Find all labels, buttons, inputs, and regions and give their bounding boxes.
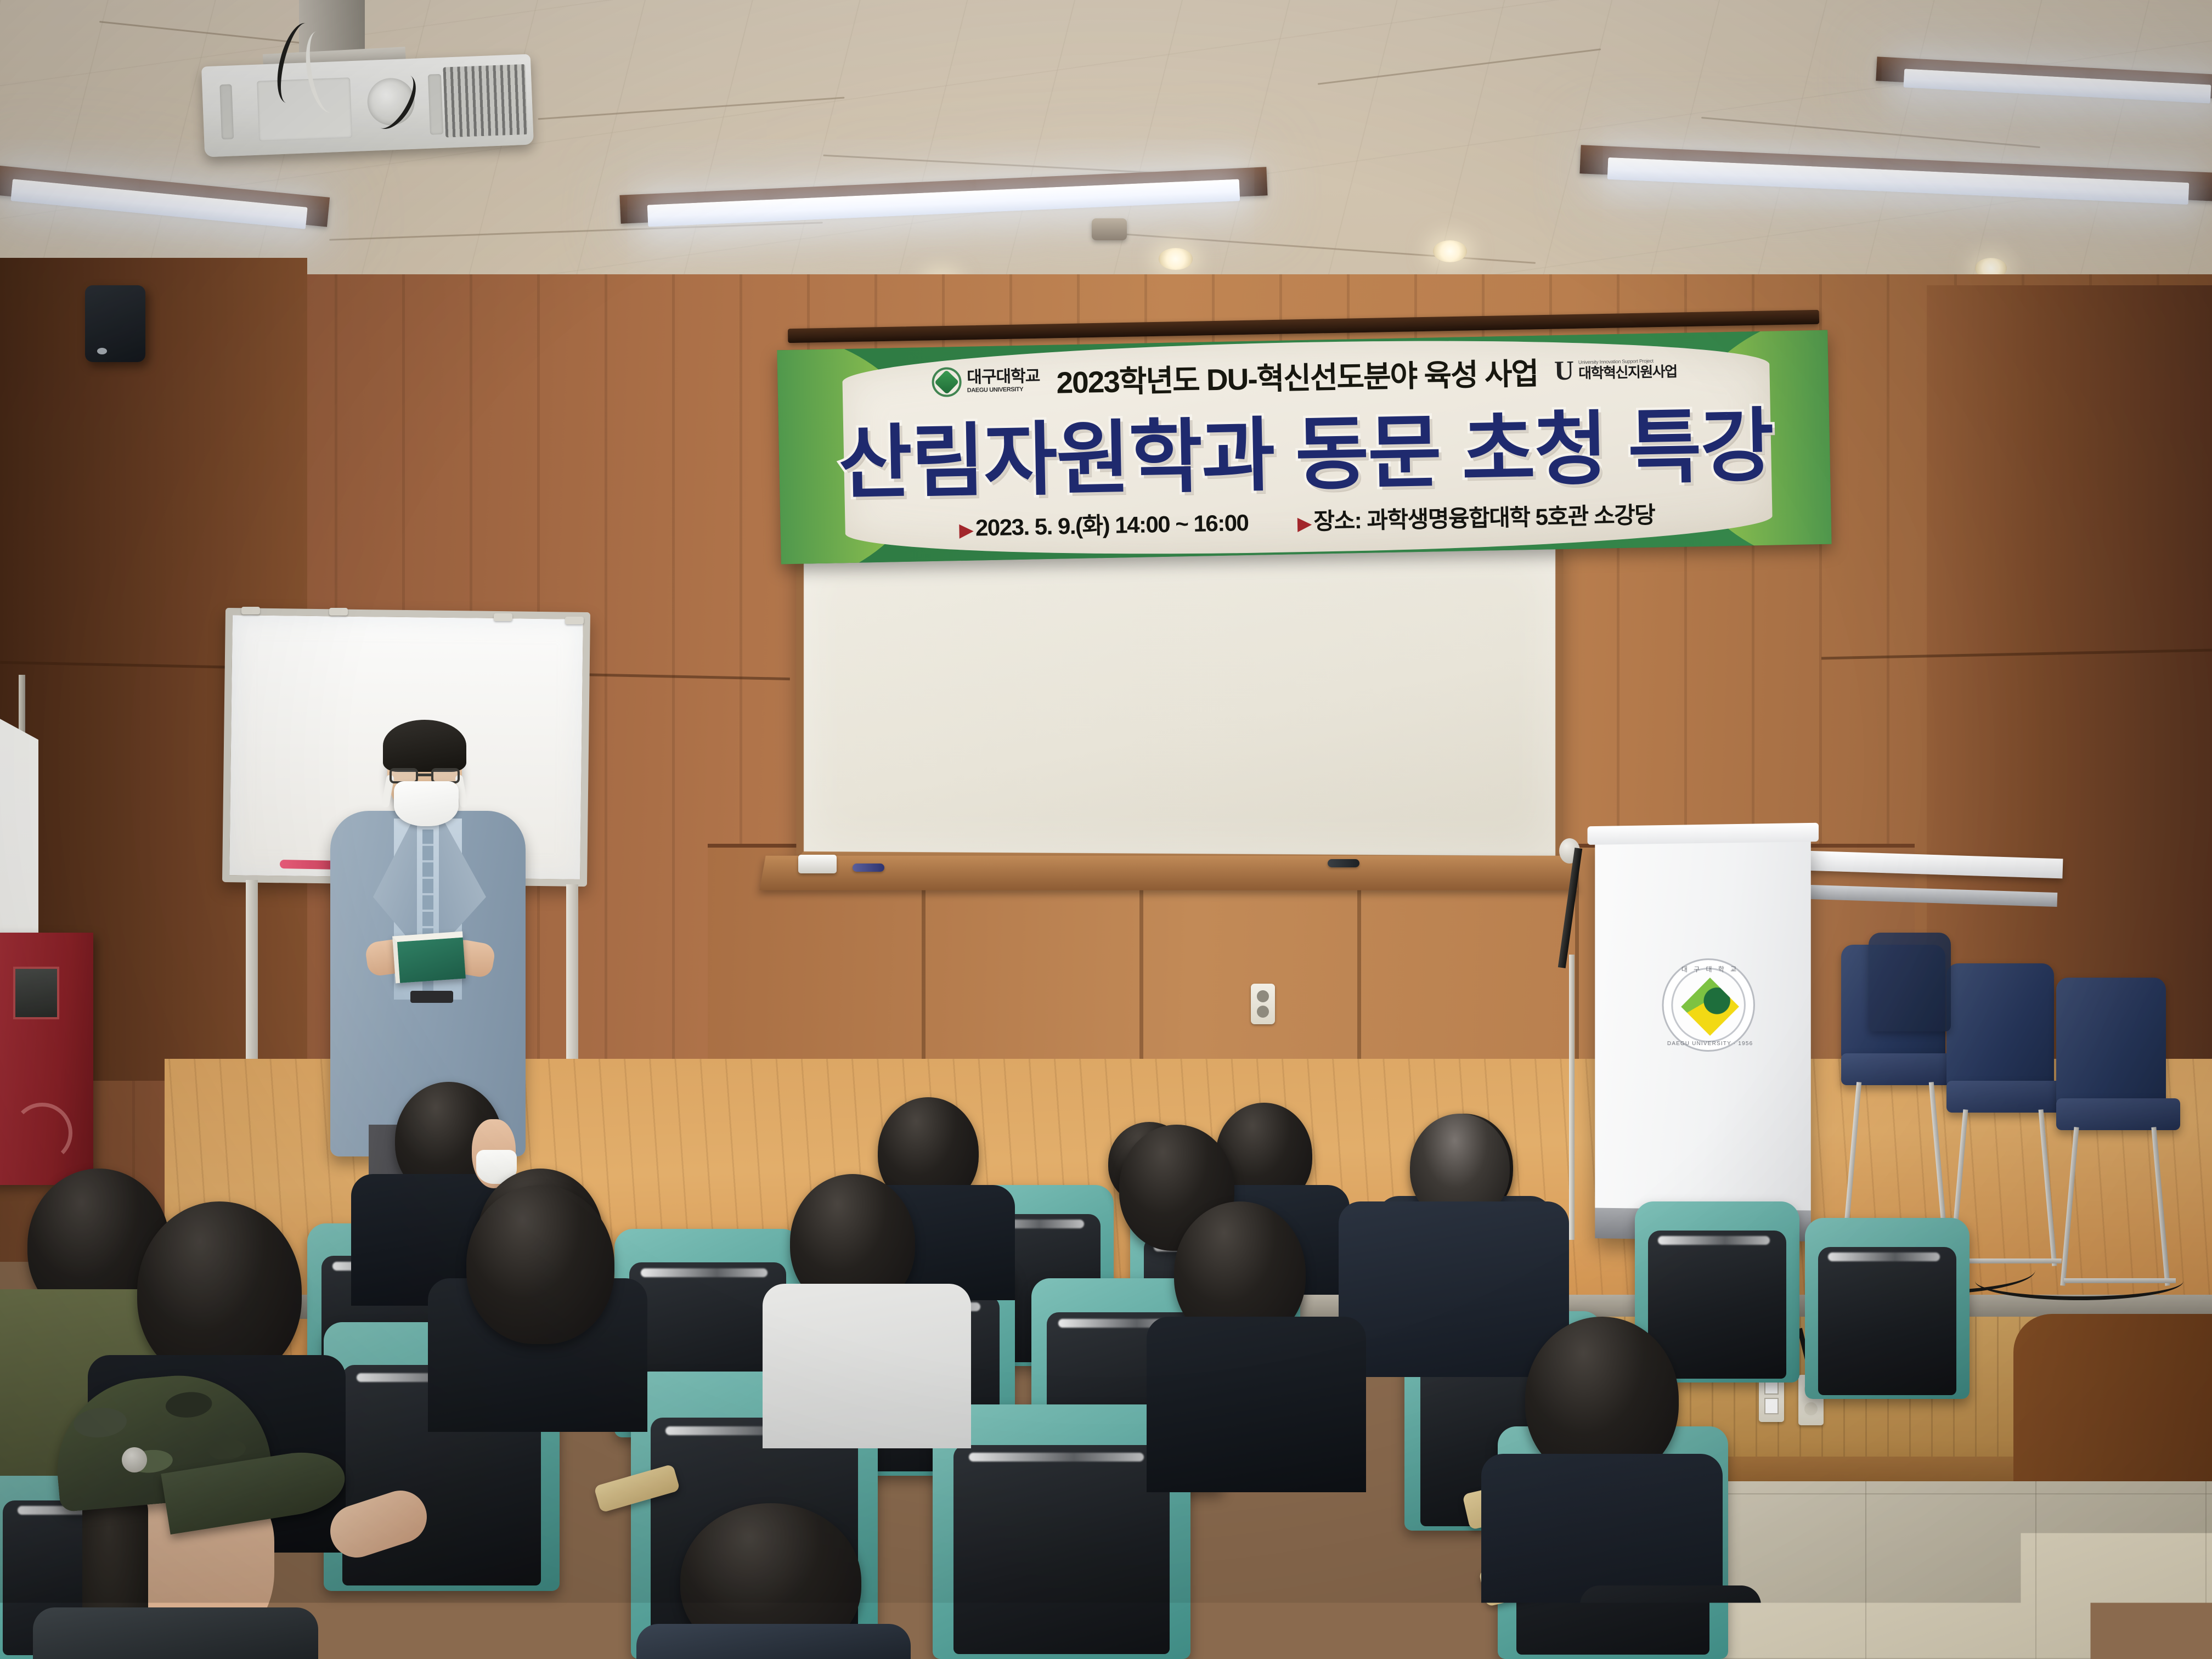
banner-place: ▶장소: 과학생명융합대학 5호관 소강당 bbox=[1297, 496, 1655, 536]
wall-speaker bbox=[85, 285, 145, 362]
innovation-project-logo: U University Innovation Support Project … bbox=[1554, 357, 1677, 381]
smoke-detector-icon bbox=[1092, 218, 1127, 240]
u-mark-icon: U bbox=[1554, 359, 1575, 382]
innovation-logo-korean: 대학혁신지원사업 bbox=[1578, 364, 1677, 380]
banner-place-text: 장소: 과학생명융합대학 5호관 소강당 bbox=[1313, 501, 1655, 534]
water-bottle[interactable] bbox=[1673, 1623, 1699, 1659]
capped-audience-torso bbox=[33, 1607, 318, 1659]
whiteboard-eraser[interactable] bbox=[798, 855, 837, 873]
audience-torso bbox=[636, 1624, 911, 1659]
green-booklet bbox=[392, 932, 466, 984]
seal-korean-text: 대 구 대 학 교 bbox=[1663, 964, 1757, 974]
marker-black[interactable] bbox=[853, 864, 884, 872]
audience-seat[interactable] bbox=[1805, 1218, 1970, 1399]
audience-torso bbox=[1339, 1201, 1569, 1377]
presenter-hair bbox=[383, 720, 466, 772]
banner-main-title: 산림자원학과 동문 초청 특강 bbox=[860, 384, 1751, 511]
whiteboard-clip-3 bbox=[494, 613, 512, 621]
cabinet-decor-icon bbox=[12, 1103, 72, 1163]
lectern-podium: 대 구 대 학 교 DAEGU UNIVERSITY · 1956 bbox=[1595, 835, 1811, 1242]
microphone-stand bbox=[1569, 955, 1575, 1240]
audience-torso bbox=[763, 1284, 971, 1448]
banner-datetime: ▶2023. 5. 9.(화) 14:00 ~ 16:00 bbox=[959, 504, 1249, 543]
audience-torso bbox=[1147, 1317, 1366, 1492]
presenter-face-mask bbox=[394, 781, 459, 826]
audience-head bbox=[466, 1185, 614, 1344]
presenter-belt bbox=[410, 991, 453, 1003]
seal-english-text: DAEGU UNIVERSITY · 1956 bbox=[1663, 1041, 1757, 1047]
marker-blue[interactable] bbox=[1328, 859, 1359, 867]
projector-vent bbox=[443, 64, 528, 138]
event-banner: 대구대학교 DAEGU UNIVERSITY 2023학년도 DU-혁신선도분야… bbox=[777, 330, 1831, 565]
daegu-university-diamond-icon bbox=[932, 367, 962, 397]
fire-hose-cabinet[interactable] bbox=[0, 933, 93, 1185]
stage-rounded-corner bbox=[2013, 1314, 2212, 1500]
lecture-hall-photo: 대구대학교 DAEGU UNIVERSITY 2023학년도 DU-혁신선도분야… bbox=[0, 0, 2212, 1659]
ceiling-projector bbox=[201, 54, 534, 157]
triangle-bullet-icon: ▶ bbox=[960, 520, 973, 539]
whiteboard-clip-4 bbox=[565, 617, 584, 624]
banner-datetime-text: 2023. 5. 9.(화) 14:00 ~ 16:00 bbox=[975, 509, 1249, 540]
triangle-bullet-icon-2: ▶ bbox=[1297, 513, 1311, 533]
downlight-2 bbox=[1433, 240, 1467, 262]
daegu-university-seal: 대 구 대 학 교 DAEGU UNIVERSITY · 1956 bbox=[1662, 958, 1755, 1052]
downlight-1 bbox=[1159, 248, 1193, 270]
projection-screen bbox=[796, 541, 1563, 864]
backpack[interactable] bbox=[1580, 1585, 1761, 1659]
cabinet-label-plate bbox=[13, 967, 59, 1019]
whiteboard-clip-1 bbox=[241, 607, 260, 614]
logo-english-name: DAEGU UNIVERSITY bbox=[967, 386, 1040, 394]
board-ledge bbox=[759, 856, 1577, 890]
podium-top-surface bbox=[1588, 823, 1819, 845]
logo-korean-name: 대구대학교 bbox=[967, 368, 1040, 386]
wall-outlet[interactable] bbox=[1251, 984, 1275, 1024]
daegu-university-logo: 대구대학교 DAEGU UNIVERSITY bbox=[932, 365, 1040, 397]
cap-button-icon bbox=[122, 1447, 147, 1472]
seal-diamond-icon bbox=[1681, 978, 1739, 1036]
whiteboard-clip-2 bbox=[329, 608, 348, 616]
